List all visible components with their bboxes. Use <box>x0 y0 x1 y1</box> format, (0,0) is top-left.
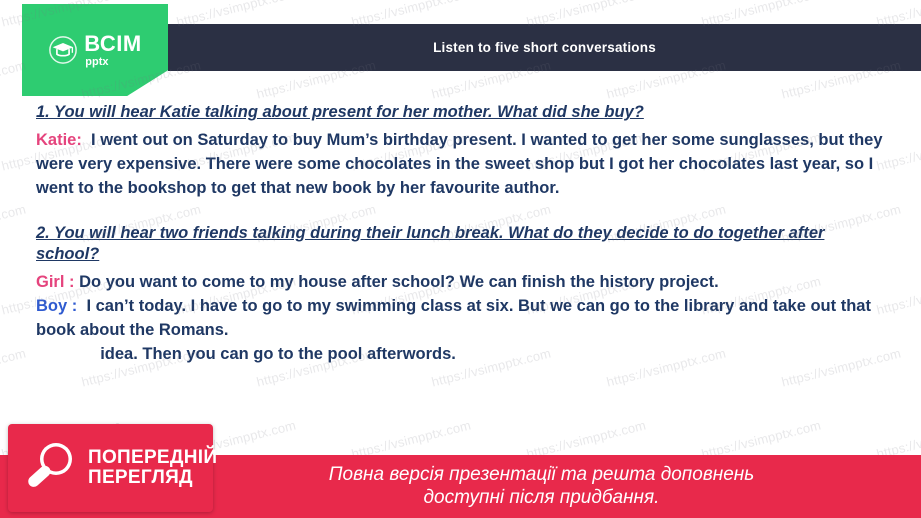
task-question: 2. You will hear two friends talking dur… <box>36 223 888 265</box>
task-block: 1. You will hear Katie talking about pre… <box>36 102 888 201</box>
magnifier-icon <box>18 435 80 502</box>
graduation-cap-icon <box>48 35 78 65</box>
logo-name: ВСІМ <box>84 33 141 55</box>
dialogue-line: idea. Then you can go to the pool afterw… <box>36 343 888 367</box>
speaker-label: Katie <box>36 131 76 149</box>
task-block: 2. You will hear two friends talking dur… <box>36 223 888 367</box>
task-question: 1. You will hear Katie talking about pre… <box>36 102 888 123</box>
slide-header-bar: Listen to five short conversations <box>168 24 921 71</box>
slide-content: 1. You will hear Katie talking about pre… <box>36 102 888 367</box>
banner-line-2: доступні після придбання. <box>329 487 754 510</box>
preview-badge: ПОПЕРЕДНІЙ ПЕРЕГЛЯД <box>8 424 213 512</box>
speaker-punct: : <box>69 273 75 291</box>
logo-subtitle: pptx <box>85 57 108 68</box>
speaker-label: Girl <box>36 273 64 291</box>
banner-line-1: Повна версія презентації та решта доповн… <box>329 464 754 487</box>
speaker-label: Boy <box>36 297 67 315</box>
dialogue-text: idea. Then you can go to the pool afterw… <box>100 345 456 363</box>
dialogue-text: I went out on Saturday to buy Mum’s birt… <box>36 131 883 197</box>
slide-canvas: Listen to five short conversations ВСІМ … <box>0 0 921 518</box>
logo: ВСІМ pptx <box>22 4 168 96</box>
preview-badge-line-1: ПОПЕРЕДНІЙ <box>88 448 217 468</box>
dialogue-line: Katie: I went out on Saturday to buy Mum… <box>36 129 888 201</box>
preview-badge-line-2: ПЕРЕГЛЯД <box>88 468 217 488</box>
dialogue-line: Boy : I can’t today. I have to go to my … <box>36 295 888 343</box>
page-title: Listen to five short conversations <box>433 40 656 55</box>
dialogue-text: I can’t today. I have to go to my swimmi… <box>36 297 871 339</box>
speaker-punct: : <box>72 297 78 315</box>
dialogue-line: Girl : Do you want to come to my house a… <box>36 271 888 295</box>
speaker-punct: : <box>76 131 82 149</box>
dialogue-text: Do you want to come to my house after sc… <box>79 273 719 291</box>
